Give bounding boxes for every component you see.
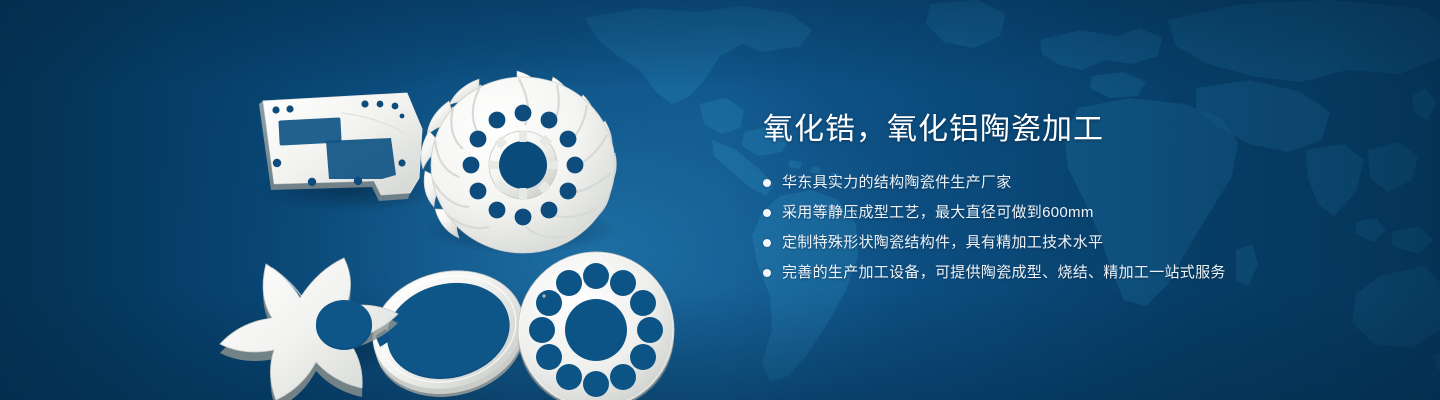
list-item-label: 华东具实力的结构陶瓷件生产厂家 <box>782 172 1012 193</box>
bullet-dot-icon <box>763 209 771 217</box>
banner-copy: 氧化锆，氧化铝陶瓷加工 华东具实力的结构陶瓷件生产厂家 采用等静压成型工艺，最大… <box>763 110 1323 283</box>
list-item-label: 采用等静压成型工艺，最大直径可做到600mm <box>782 202 1094 223</box>
ceramic-parts-photo <box>230 30 710 380</box>
ceramic-cross-part <box>220 258 398 400</box>
ceramic-impeller-part <box>421 71 616 253</box>
bullet-dot-icon <box>763 239 771 247</box>
page-title: 氧化锆，氧化铝陶瓷加工 <box>763 110 1323 150</box>
bullet-dot-icon <box>763 269 771 277</box>
feature-list: 华东具实力的结构陶瓷件生产厂家 采用等静压成型工艺，最大直径可做到600mm 定… <box>763 172 1323 283</box>
list-item: 完善的生产加工设备，可提供陶瓷成型、烧结、精加工一站式服务 <box>763 262 1323 283</box>
list-item-label: 定制特殊形状陶瓷结构件，具有精加工技术水平 <box>782 232 1103 253</box>
bullet-dot-icon <box>763 179 771 187</box>
ceramic-plate-part <box>259 93 422 201</box>
ceramic-perforated-disc-part <box>518 252 674 400</box>
hero-banner: 氧化锆，氧化铝陶瓷加工 华东具实力的结构陶瓷件生产厂家 采用等静压成型工艺，最大… <box>0 0 1440 400</box>
list-item: 定制特殊形状陶瓷结构件，具有精加工技术水平 <box>763 232 1323 253</box>
list-item-label: 完善的生产加工设备，可提供陶瓷成型、烧结、精加工一站式服务 <box>782 262 1226 283</box>
list-item: 采用等静压成型工艺，最大直径可做到600mm <box>763 202 1323 223</box>
list-item: 华东具实力的结构陶瓷件生产厂家 <box>763 172 1323 193</box>
